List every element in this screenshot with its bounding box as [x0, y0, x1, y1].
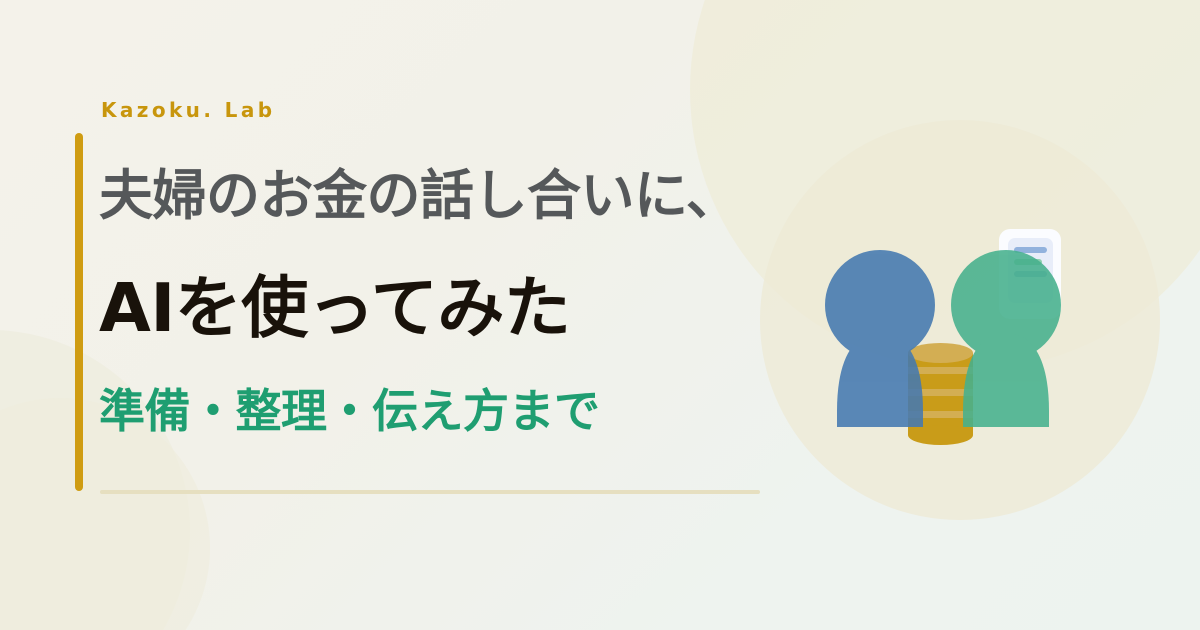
headline-divider	[100, 490, 760, 494]
headline-line-2: AIを使ってみた	[99, 272, 570, 344]
og-banner-canvas: Kazoku. Lab 夫婦のお金の話し合いに、 AIを使ってみた 準備・整理・…	[0, 0, 1200, 630]
headline-line-3: 準備・整理・伝え方まで	[99, 387, 600, 437]
person-green-icon	[951, 250, 1061, 427]
headline-line-1: 夫婦のお金の話し合いに、	[99, 167, 739, 225]
brand-label: Kazoku. Lab	[101, 100, 275, 120]
illustration-couple-money	[790, 215, 1090, 465]
person-blue-icon	[825, 250, 935, 427]
vertical-accent-bar	[75, 133, 83, 491]
decor-circle-bottom-left	[0, 330, 190, 630]
